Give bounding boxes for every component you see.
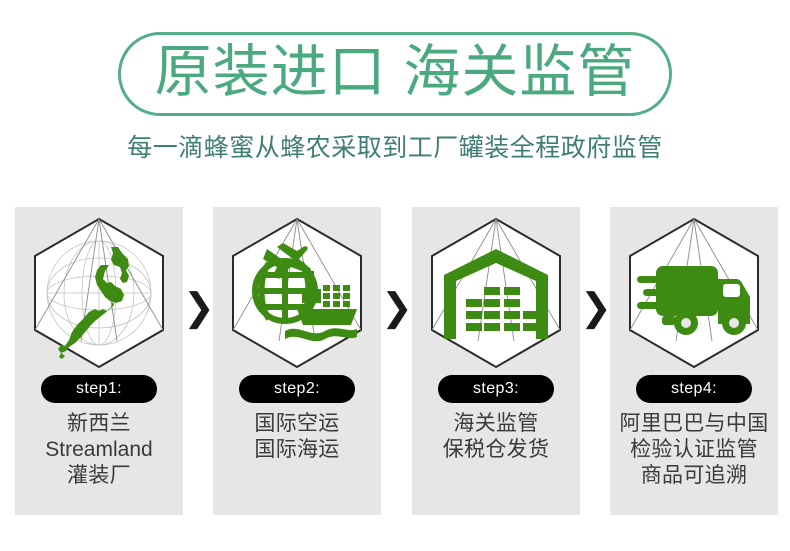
step-caption-4: 阿里巴巴与中国 检验认证监管 商品可追溯 [610, 411, 778, 489]
step-caption-2: 国际空运 国际海运 [213, 411, 381, 463]
warehouse-boxes-icon [422, 213, 570, 373]
title-pill-outline: 原装进口 海关监管 [118, 32, 672, 116]
header-banner: 原装进口 海关监管 每一滴蜂蜜从蜂农采取到工厂罐装全程政府监管 [0, 0, 790, 195]
step-caption-line: 国际海运 [213, 437, 381, 463]
step-card-2[interactable]: step2: 国际空运 国际海运 [213, 207, 381, 515]
page-subtitle: 每一滴蜂蜜从蜂农采取到工厂罐装全程政府监管 [0, 133, 790, 163]
step-caption-3: 海关监管 保税仓发货 [412, 411, 580, 463]
step-badge-1: step1: [41, 375, 157, 403]
step-card-4[interactable]: step4: 阿里巴巴与中国 检验认证监管 商品可追溯 [610, 207, 778, 515]
chevron-right-icon-3: ❯ [580, 285, 610, 329]
step-badge-4: step4: [636, 375, 752, 403]
step-caption-line: 阿里巴巴与中国 [610, 411, 778, 437]
step-caption-line: 保税仓发货 [412, 437, 580, 463]
page-title: 原装进口 海关监管 [121, 35, 669, 113]
step-card-3[interactable]: step3: 海关监管 保税仓发货 [412, 207, 580, 515]
step-caption-line: 检验认证监管 [610, 437, 778, 463]
chevron-right-icon-1: ❯ [183, 285, 213, 329]
step-caption-line: Streamland [15, 437, 183, 463]
step-caption-line: 新西兰 [15, 411, 183, 437]
globe-airplane-cargo-ship-icon [223, 213, 371, 373]
step-caption-line: 灌装厂 [15, 463, 183, 489]
step-badge-2: step2: [239, 375, 355, 403]
step-caption-line: 国际空运 [213, 411, 381, 437]
new-zealand-map-globe-icon [25, 213, 173, 373]
step-caption-line: 商品可追溯 [610, 463, 778, 489]
step-caption-line: 海关监管 [412, 411, 580, 437]
chevron-right-icon-2: ❯ [381, 285, 411, 329]
step-caption-1: 新西兰 Streamland 灌装厂 [15, 411, 183, 489]
delivery-truck-icon [620, 213, 768, 373]
process-steps-strip: step1: 新西兰 Streamland 灌装厂 ❯ [0, 207, 790, 515]
step-card-1[interactable]: step1: 新西兰 Streamland 灌装厂 [15, 207, 183, 515]
step-badge-3: step3: [438, 375, 554, 403]
